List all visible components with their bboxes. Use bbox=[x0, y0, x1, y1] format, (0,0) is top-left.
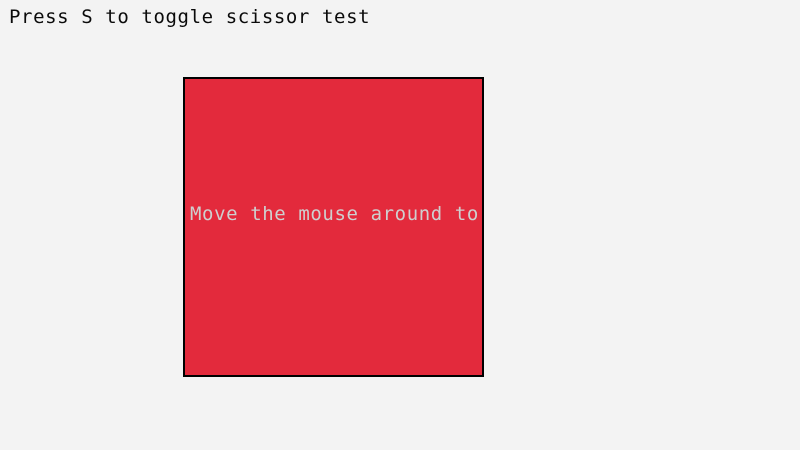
scissor-clipped-text-container: Move the mouse around to resize the scis… bbox=[190, 201, 484, 227]
scissor-instruction-text: Move the mouse around to resize the scis… bbox=[190, 201, 484, 227]
scissor-region-rect[interactable]: Move the mouse around to resize the scis… bbox=[183, 77, 484, 377]
demo-window: Press S to toggle scissor test Move the … bbox=[0, 0, 800, 450]
scissor-toggle-hint: Press S to toggle scissor test bbox=[9, 6, 370, 29]
